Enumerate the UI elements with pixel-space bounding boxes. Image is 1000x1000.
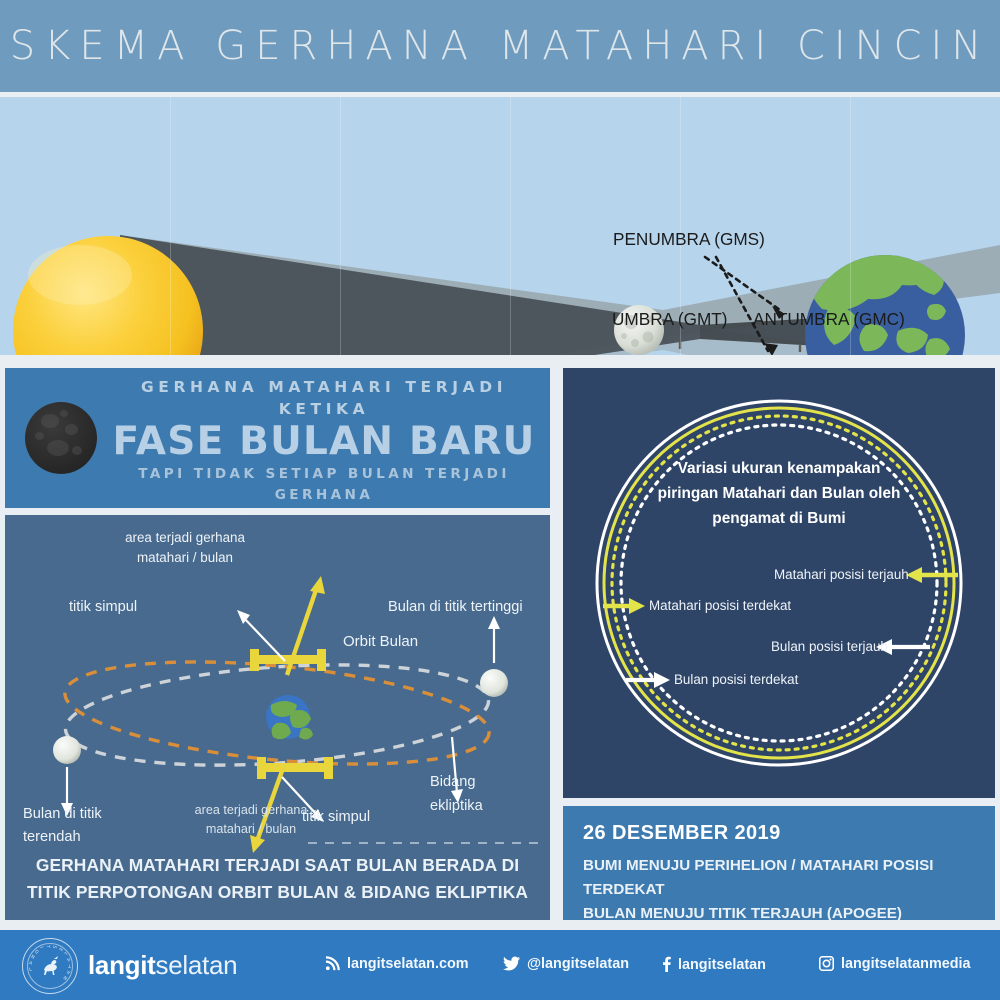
- instagram-icon: [819, 956, 834, 971]
- divider-top: [0, 355, 1000, 368]
- orbit-caption: GERHANA MATAHARI TERJADI SAAT BULAN BERA…: [5, 852, 550, 906]
- moon-lowest-label: Bulan di titik terendah: [23, 803, 143, 849]
- eclipse-area-bottom-label: area terjadi gerhana matahari / bulan: [183, 801, 319, 839]
- node-bottom-label: titik simpul: [302, 809, 370, 825]
- penumbra-label: PENUMBRA (GMS): [613, 229, 765, 250]
- node-top-leader: [243, 617, 285, 661]
- brand-light: selatan: [156, 950, 238, 980]
- phase-line-1: GERHANA MATAHARI TERJADI KETIKA: [105, 376, 543, 420]
- footer-bar: LANGITSELATAN langitselatan: [0, 930, 1000, 1000]
- eclipse-area-top-label: area terjadi gerhana matahari / bulan: [95, 528, 275, 568]
- page-title: SKEMA GERHANA MATAHARI CINCIN: [0, 0, 1000, 92]
- apparent-size-rings-panel: Variasi ukuran kenampakan piringan Matah…: [563, 368, 995, 798]
- new-moon-icon: [25, 402, 97, 474]
- orbit-label: Orbit Bulan: [343, 633, 418, 650]
- facebook-label: langitselatan: [678, 957, 766, 973]
- ecliptic-plane-label: Bidang ekliptika: [430, 770, 530, 818]
- divider-footer: [0, 920, 1000, 930]
- infographic-page: SKEMA GERHANA MATAHARI CINCIN: [0, 0, 1000, 1000]
- label-sun-near: Matahari posisi terdekat: [649, 598, 791, 613]
- sun-far-arrow: [906, 567, 958, 583]
- link-instagram[interactable]: langitselatanmedia: [819, 956, 971, 972]
- moon-highest-label: Bulan di titik tertinggi: [388, 599, 523, 615]
- concentric-rings: [563, 368, 995, 798]
- link-facebook[interactable]: langitselatan: [662, 956, 766, 973]
- link-website[interactable]: langitselatan.com: [325, 956, 469, 972]
- header-bar: SKEMA GERHANA MATAHARI CINCIN: [0, 0, 1000, 92]
- phase-line-2: FASE BULAN BARU: [105, 420, 543, 464]
- umbra-label: UMBRA (GMT): [612, 309, 728, 330]
- twitter-icon: [503, 956, 520, 971]
- eclipse-geometry-diagram: PENUMBRA (GMS) UMBRA (GMT) ANTUMBRA (GMC…: [0, 97, 1000, 355]
- new-moon-phase-panel: GERHANA MATAHARI TERJADI KETIKA FASE BUL…: [5, 368, 550, 508]
- website-label: langitselatan.com: [347, 956, 469, 972]
- brand-wordmark: langitselatan: [88, 950, 237, 981]
- centaur-icon: [38, 954, 62, 978]
- phase-line-3: TAPI TIDAK SETIAP BULAN TERJADI GERHANA: [105, 464, 543, 506]
- moon-orbit-diagram-panel: area terjadi gerhana matahari / bulan ti…: [5, 515, 550, 920]
- label-sun-far: Matahari posisi terjauh: [774, 567, 909, 582]
- link-twitter[interactable]: @langitselatan: [503, 956, 629, 972]
- rss-icon: [325, 956, 340, 971]
- date-info-panel: 26 DESEMBER 2019 BUMI MENUJU PERIHELION …: [563, 806, 995, 920]
- twitter-label: @langitselatan: [527, 956, 629, 972]
- instagram-label: langitselatanmedia: [841, 956, 971, 972]
- brand-bold: langit: [88, 950, 156, 980]
- label-moon-far: Bulan posisi terjauh: [771, 639, 888, 654]
- label-moon-near: Bulan posisi terdekat: [674, 672, 798, 687]
- rings-title: Variasi ukuran kenampakan piringan Matah…: [619, 456, 939, 531]
- langitselatan-seal-logo: LANGITSELATAN: [22, 938, 78, 994]
- moon-highest-icon: [480, 669, 508, 697]
- event-detail: BUMI MENUJU PERIHELION / MATAHARI POSISI…: [583, 854, 995, 926]
- node-top-label: titik simpul: [69, 599, 137, 615]
- facebook-icon: [662, 956, 671, 972]
- antumbra-label: ANTUMBRA (GMC): [753, 309, 905, 330]
- moon-lowest-icon: [53, 736, 81, 764]
- event-date: 26 DESEMBER 2019: [583, 822, 781, 845]
